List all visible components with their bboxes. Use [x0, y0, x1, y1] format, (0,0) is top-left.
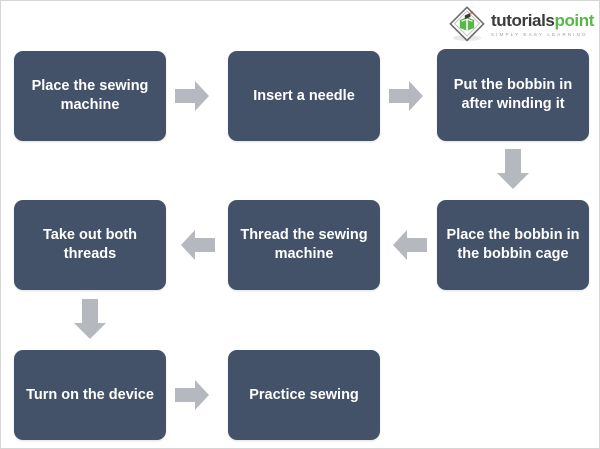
tutorialspoint-logo[interactable]: tutorialspoint SIMPLY EASY LEARNING	[448, 5, 598, 43]
flow-node-label: Take out both threads	[22, 226, 158, 263]
flow-node-turn-on-the-device[interactable]: Turn on the device	[14, 350, 166, 440]
flow-node-insert-a-needle[interactable]: Insert a needle	[228, 51, 380, 141]
flow-node-label: Practice sewing	[249, 386, 359, 405]
flow-arrow-down-icon	[494, 147, 532, 191]
flow-node-label: Place the sewing machine	[22, 77, 158, 114]
flow-node-label: Place the bobbin in the bobbin cage	[445, 226, 581, 263]
flow-arrow-left-icon	[179, 226, 217, 264]
flow-arrow-right-icon	[173, 376, 211, 414]
flow-node-label: Thread the sewing machine	[236, 226, 372, 263]
flow-node-label: Turn on the device	[26, 386, 154, 405]
logo-tagline: SIMPLY EASY LEARNING	[491, 32, 594, 37]
flow-node-take-out-both-threads[interactable]: Take out both threads	[14, 200, 166, 290]
flow-node-thread-the-sewing-machine[interactable]: Thread the sewing machine	[228, 200, 380, 290]
flow-node-label: Insert a needle	[253, 87, 355, 106]
logo-word-point: point	[554, 11, 594, 30]
tutorialspoint-logo-mark-icon	[448, 5, 486, 43]
flow-node-label: Put the bobbin in after winding it	[445, 76, 581, 113]
flow-arrow-left-icon	[391, 226, 429, 264]
flow-arrow-right-icon	[173, 77, 211, 115]
flow-node-place-the-sewing-machine[interactable]: Place the sewing machine	[14, 51, 166, 141]
logo-word-tutorials: tutorials	[491, 11, 554, 30]
flowchart-canvas: tutorialspoint SIMPLY EASY LEARNING Plac…	[0, 0, 600, 449]
flow-arrow-right-icon	[387, 77, 425, 115]
flow-node-put-the-bobbin-in-after-winding-it[interactable]: Put the bobbin in after winding it	[437, 49, 589, 141]
tutorialspoint-logo-text: tutorialspoint SIMPLY EASY LEARNING	[491, 12, 594, 37]
flow-arrow-down-icon	[71, 297, 109, 341]
flow-node-place-the-bobbin-in-the-bobbin-cage[interactable]: Place the bobbin in the bobbin cage	[437, 200, 589, 290]
flow-node-practice-sewing[interactable]: Practice sewing	[228, 350, 380, 440]
